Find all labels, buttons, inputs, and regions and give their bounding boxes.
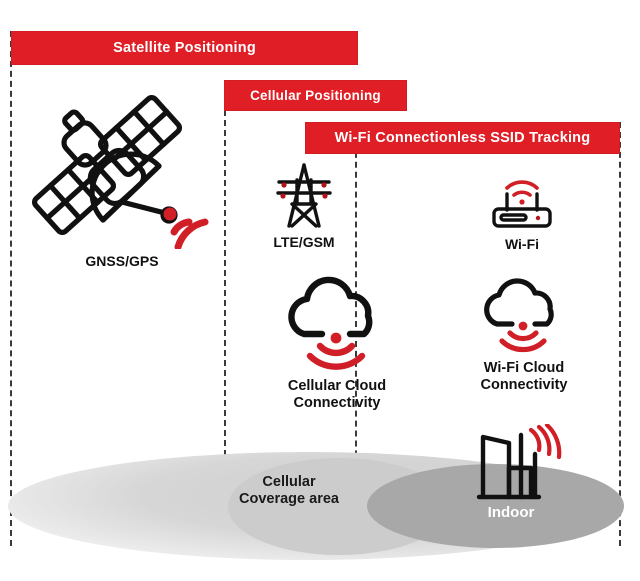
wifi-router-icon bbox=[476, 170, 568, 232]
node-gnss-label: GNSS/GPS bbox=[22, 253, 222, 270]
node-lte-gsm[interactable]: LTE/GSM bbox=[245, 160, 363, 251]
satellite-icon bbox=[22, 84, 222, 249]
banner-satellite-positioning[interactable]: Satellite Positioning bbox=[11, 31, 358, 65]
node-gnss[interactable]: GNSS/GPS bbox=[22, 84, 222, 270]
coverage-label-cellular: Cellular Coverage area bbox=[228, 474, 350, 509]
banner-cellular-positioning[interactable]: Cellular Positioning bbox=[224, 80, 407, 111]
node-indoor[interactable] bbox=[468, 424, 570, 502]
node-wifi[interactable]: Wi-Fi bbox=[463, 170, 581, 253]
node-wifi-label: Wi-Fi bbox=[463, 236, 581, 253]
cell-tower-icon bbox=[266, 160, 342, 230]
node-cellular-cloud-label: Cellular Cloud Connectivity bbox=[263, 378, 411, 412]
banner-satellite-label: Satellite Positioning bbox=[113, 40, 256, 56]
cloud-signal-icon bbox=[282, 276, 392, 374]
guide-line-right bbox=[619, 122, 621, 546]
guide-line-left bbox=[10, 31, 12, 546]
buildings-signal-icon bbox=[469, 424, 569, 502]
cloud-signal-icon bbox=[478, 276, 570, 356]
banner-wifi-label: Wi-Fi Connectionless SSID Tracking bbox=[335, 130, 591, 146]
node-wifi-cloud[interactable]: Wi-Fi Cloud Connectivity bbox=[455, 276, 593, 394]
diagram-canvas: Cellular Coverage area Satellite Positio… bbox=[0, 0, 640, 581]
banner-wifi-ssid-tracking[interactable]: Wi-Fi Connectionless SSID Tracking bbox=[305, 122, 620, 154]
node-lte-gsm-label: LTE/GSM bbox=[245, 234, 363, 251]
node-cellular-cloud[interactable]: Cellular Cloud Connectivity bbox=[263, 276, 411, 412]
banner-cellular-label: Cellular Positioning bbox=[250, 88, 381, 103]
coverage-label-indoor: Indoor bbox=[455, 504, 567, 522]
node-wifi-cloud-label: Wi-Fi Cloud Connectivity bbox=[455, 360, 593, 394]
